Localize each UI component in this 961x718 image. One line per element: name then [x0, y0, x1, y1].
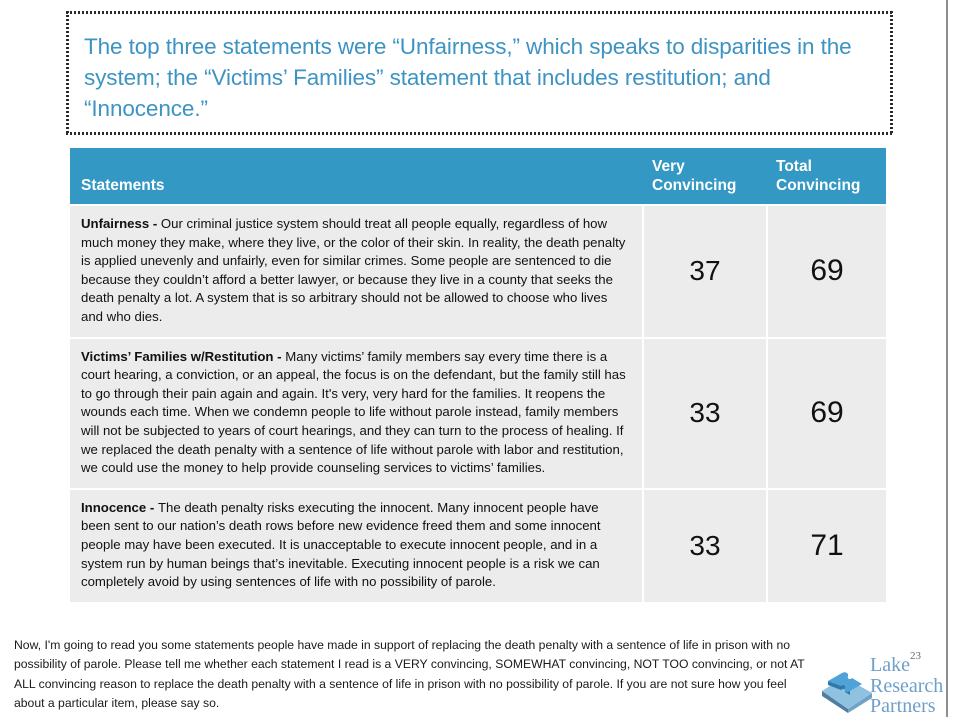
slide: The top three statements were “Unfairnes…	[0, 0, 948, 717]
very-convincing-value: 33	[644, 490, 766, 602]
logo-wordmark: Lake Research Partners	[870, 655, 943, 717]
column-header-total-convincing: Total Convincing	[766, 148, 886, 204]
table-header-row: Statements Very Convincing Total Convinc…	[70, 148, 886, 204]
column-header-statements-label: Statements	[81, 176, 165, 195]
statement-body: The death penalty risks executing the in…	[81, 500, 601, 589]
statements-table: Statements Very Convincing Total Convinc…	[70, 148, 886, 602]
column-header-very-line1: Very	[652, 157, 766, 176]
statement-body: Many victims’ family members say every t…	[81, 349, 626, 476]
very-convincing-value: 37	[644, 206, 766, 337]
column-header-very-convincing: Very Convincing	[642, 148, 766, 204]
survey-question-note: Now, I'm going to read you some statemen…	[14, 636, 814, 713]
statement-body: Our criminal justice system should treat…	[81, 216, 625, 324]
puzzle-piece-icon	[818, 661, 874, 713]
very-convincing-value: 33	[644, 339, 766, 488]
table-row: Innocence - The death penalty risks exec…	[70, 490, 886, 602]
statement-cell: Innocence - The death penalty risks exec…	[70, 490, 642, 602]
statement-label: Innocence -	[81, 500, 158, 515]
column-header-very-line2: Convincing	[652, 176, 766, 195]
total-convincing-value: 69	[768, 339, 886, 488]
table-row: Victims’ Families w/Restitution - Many v…	[70, 339, 886, 488]
total-convincing-value: 69	[768, 206, 886, 337]
statement-label: Unfairness -	[81, 216, 161, 231]
statement-cell: Unfairness - Our criminal justice system…	[70, 206, 642, 337]
column-header-total-line1: Total	[776, 157, 886, 176]
logo: Lake Research Partners	[818, 655, 948, 717]
statement-label: Victims’ Families w/Restitution -	[81, 349, 285, 364]
title-placeholder[interactable]: The top three statements were “Unfairnes…	[66, 11, 893, 135]
page-title: The top three statements were “Unfairnes…	[84, 31, 875, 124]
column-header-statements: Statements	[70, 148, 642, 204]
total-convincing-value: 71	[768, 490, 886, 602]
statement-cell: Victims’ Families w/Restitution - Many v…	[70, 339, 642, 488]
logo-line-partners: Partners	[870, 696, 943, 717]
page-number: 23	[910, 650, 921, 662]
logo-line-research: Research	[870, 676, 943, 697]
logo-line-lake: Lake	[870, 655, 943, 676]
column-header-total-line2: Convincing	[776, 176, 886, 195]
table-row: Unfairness - Our criminal justice system…	[70, 206, 886, 337]
